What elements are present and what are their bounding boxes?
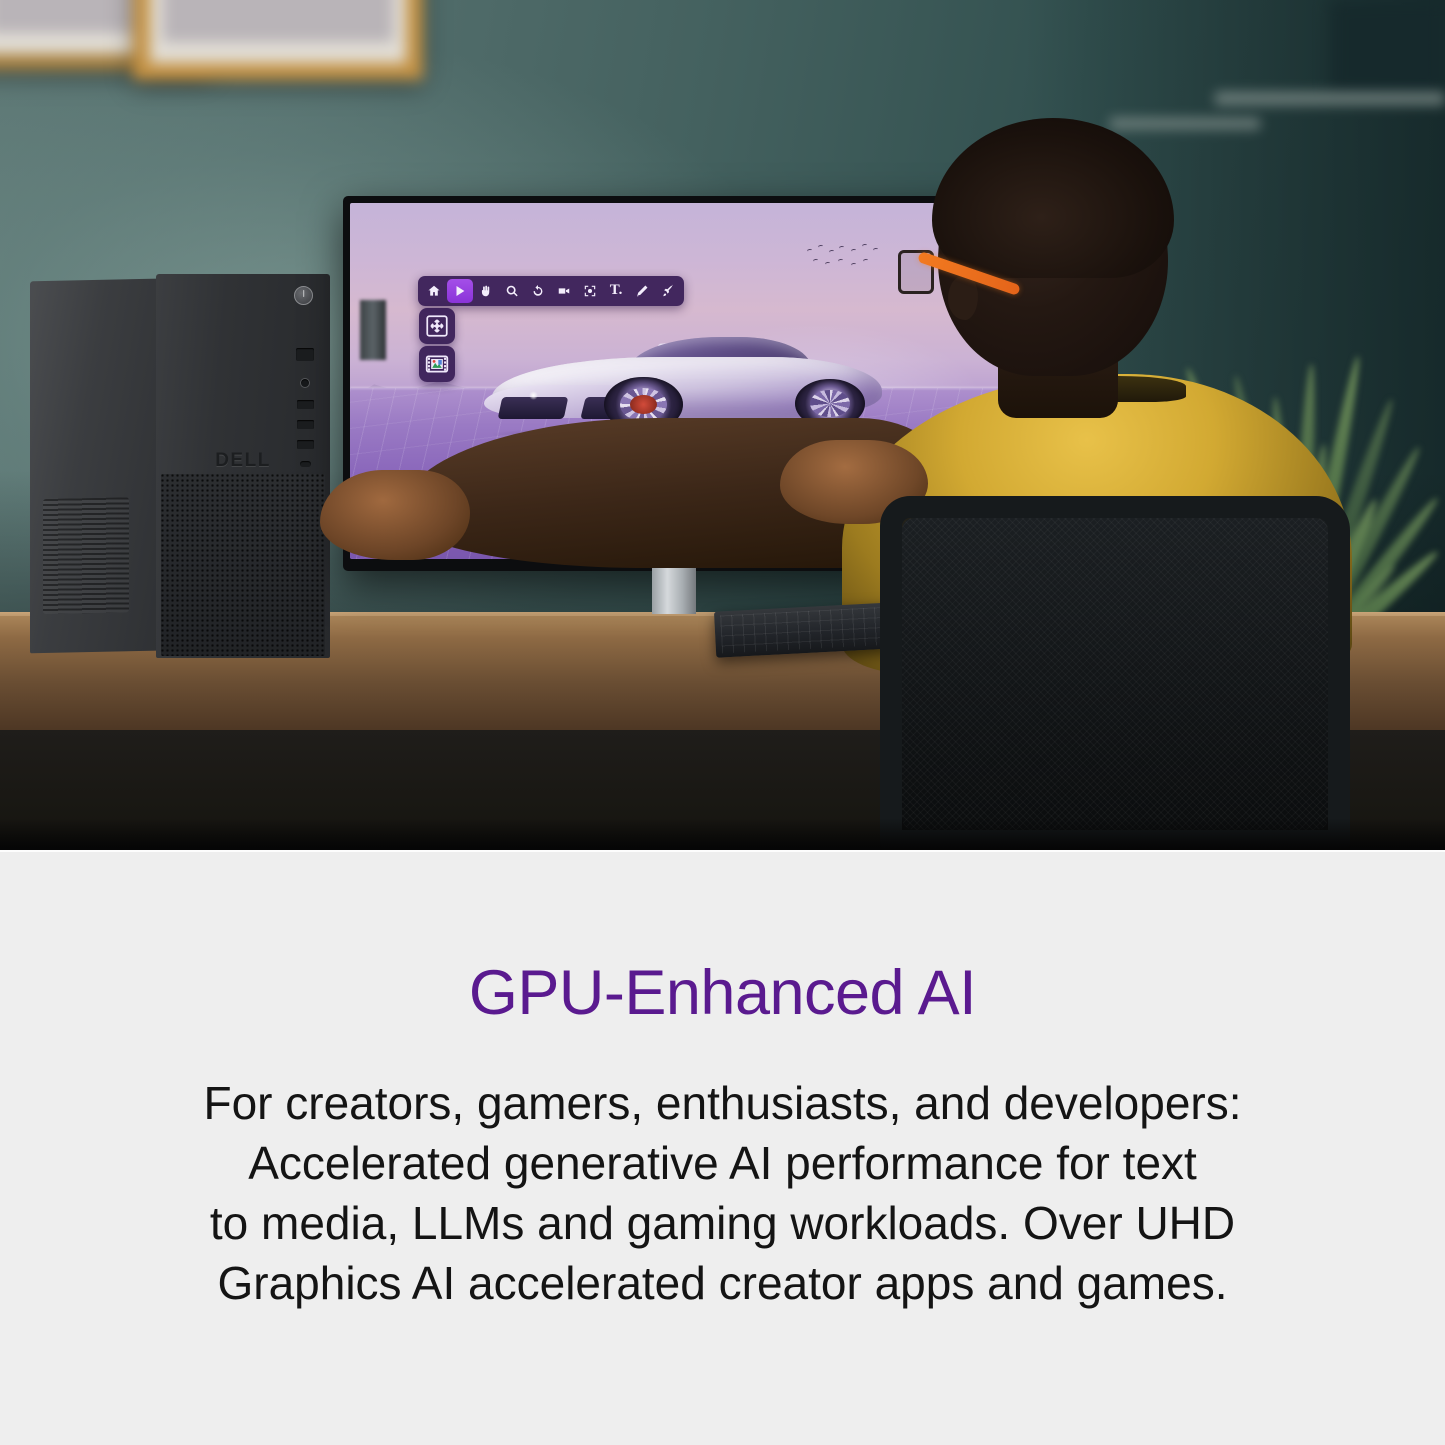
tower-front-panel: DELL [156,274,330,658]
headphone-jack-icon[interactable] [300,378,310,388]
description-line-1: For creators, gamers, enthusiasts, and d… [88,1074,1358,1134]
chair-mesh-back [902,518,1328,830]
usb-a-port-icon[interactable] [297,440,314,449]
usb-c-port-icon[interactable] [300,461,311,467]
pen-tool-button[interactable] [629,279,655,303]
person-hair [932,118,1174,278]
film-image-icon [424,351,450,377]
sd-card-slot-icon[interactable] [296,348,314,361]
car-front-intake [498,397,569,419]
text-tool-button[interactable]: T. [603,279,629,303]
brush-tool-button[interactable] [655,279,681,303]
zoom-tool-button[interactable] [499,279,525,303]
dell-desktop-tower: DELL [30,270,330,660]
tower-side-panel [30,279,158,654]
home-tool-button[interactable] [421,279,447,303]
car-headlight-glint [529,391,538,400]
focus-tool-button[interactable] [577,279,603,303]
description-line-3: to media, LLMs and gaming workloads. Ove… [88,1194,1358,1254]
tower-mesh-vent [161,474,325,656]
office-chair [880,496,1350,852]
product-feature-panel: DELL [0,0,1445,1445]
framed-picture-right [133,0,423,80]
usb-a-port-icon[interactable] [297,400,314,409]
person-ear [948,276,978,320]
move-arrows-icon [424,313,450,339]
select-tool-button[interactable] [447,279,473,303]
feature-title: GPU-Enhanced AI [0,960,1445,1026]
person-hand-left [320,470,470,560]
usb-a-port-icon[interactable] [297,420,314,429]
dell-logo: DELL [215,450,271,472]
photo-bottom-vignette [0,818,1445,852]
camera-tool-button[interactable] [551,279,577,303]
media-library-button[interactable] [419,346,455,382]
hero-photo: DELL [0,0,1445,852]
picture-art [163,0,393,42]
power-button-icon[interactable] [294,286,313,305]
caption-panel: GPU-Enhanced AI For creators, gamers, en… [0,852,1445,1445]
transform-gizmo-button[interactable] [419,308,455,344]
text-t-icon: T. [610,283,623,298]
chair-post [360,300,386,360]
description-line-2: Accelerated generative AI performance fo… [88,1134,1358,1194]
pan-tool-button[interactable] [473,279,499,303]
rotate-tool-button[interactable] [525,279,551,303]
tower-side-vents [43,497,129,614]
monitor-stand [652,562,696,614]
feature-description: For creators, gamers, enthusiasts, and d… [88,1074,1358,1313]
app-toolbar[interactable]: T. [418,276,684,306]
description-line-4: Graphics AI accelerated creator apps and… [88,1254,1358,1314]
